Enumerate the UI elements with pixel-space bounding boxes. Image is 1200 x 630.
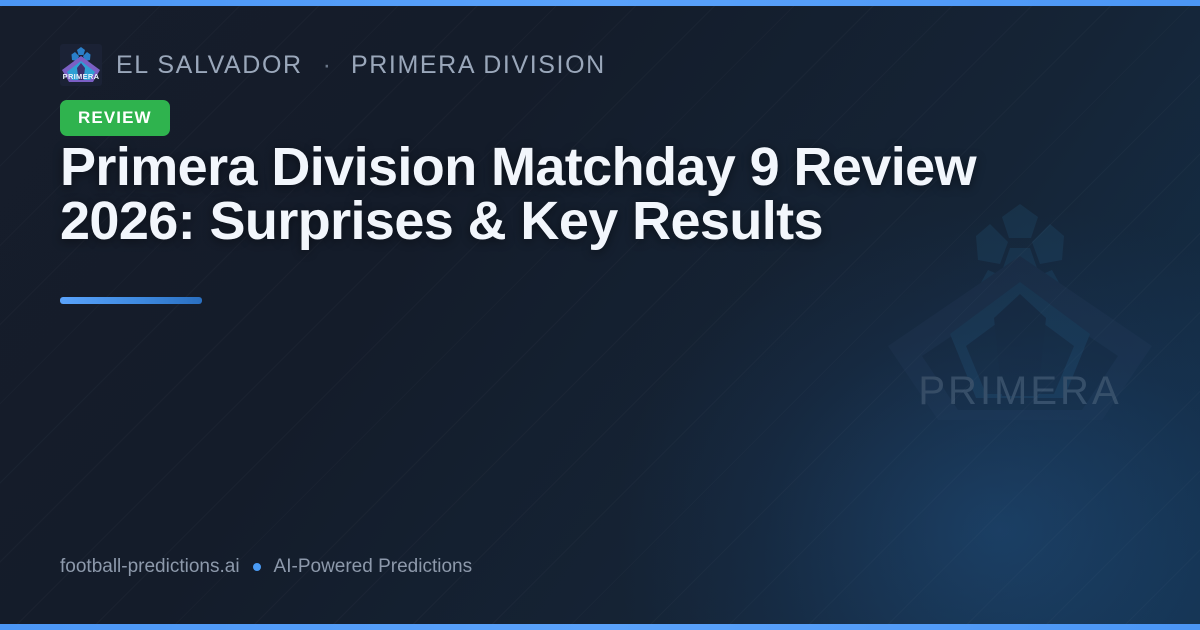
logo-wordmark: PRIMERA	[63, 72, 100, 81]
primera-shield-logo-icon: PRIMERA	[60, 44, 102, 86]
eyebrow-league: PRIMERA DIVISION	[351, 51, 606, 80]
title-accent-underline	[60, 297, 202, 304]
footer-site: football-predictions.ai	[60, 556, 240, 578]
eyebrow-separator: ·	[323, 51, 331, 80]
page-title: Primera Division Matchday 9 Review 2026:…	[60, 140, 1020, 248]
category-badge: REVIEW	[60, 100, 170, 136]
page-title-line-1: Primera Division Matchday 9 Review	[60, 140, 1020, 194]
blue-dot-separator-icon	[253, 563, 261, 571]
footer-tagline: AI-Powered Predictions	[274, 556, 473, 578]
eyebrow: PRIMERA EL SALVADOR · PRIMERA DIVISION	[60, 44, 606, 86]
og-card: PRIMERA PRIMERA	[0, 0, 1200, 630]
page-title-line-2: 2026: Surprises & Key Results	[60, 194, 1020, 248]
content-area: PRIMERA EL SALVADOR · PRIMERA DIVISION R…	[60, 0, 1140, 630]
eyebrow-country: EL SALVADOR	[116, 51, 303, 80]
footer: football-predictions.ai AI-Powered Predi…	[60, 556, 472, 578]
